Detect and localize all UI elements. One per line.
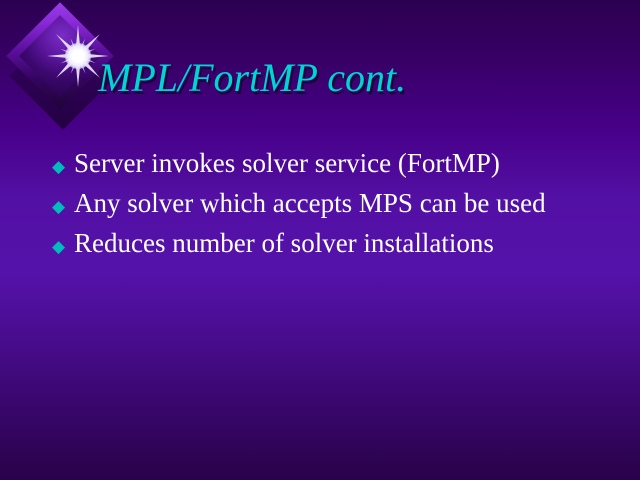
starburst-core (65, 43, 91, 69)
slide-bullet-list: ◆ Server invokes solver service (FortMP)… (52, 143, 612, 263)
list-item: ◆ Reduces number of solver installations (52, 223, 612, 263)
diamond-bullet-icon: ◆ (52, 147, 74, 187)
presentation-slide: MPL/FortMP cont. ◆ Server invokes solver… (0, 0, 640, 480)
list-item-label: Reduces number of solver installations (74, 223, 612, 263)
slide-title: MPL/FortMP cont. (98, 54, 406, 102)
list-item-label: Any solver which accepts MPS can be used (74, 183, 612, 223)
diamond-bullet-icon: ◆ (52, 227, 74, 267)
diamond-bullet-icon: ◆ (52, 187, 74, 227)
list-item: ◆ Any solver which accepts MPS can be us… (52, 183, 612, 223)
list-item: ◆ Server invokes solver service (FortMP) (52, 143, 612, 183)
list-item-label: Server invokes solver service (FortMP) (74, 143, 612, 183)
